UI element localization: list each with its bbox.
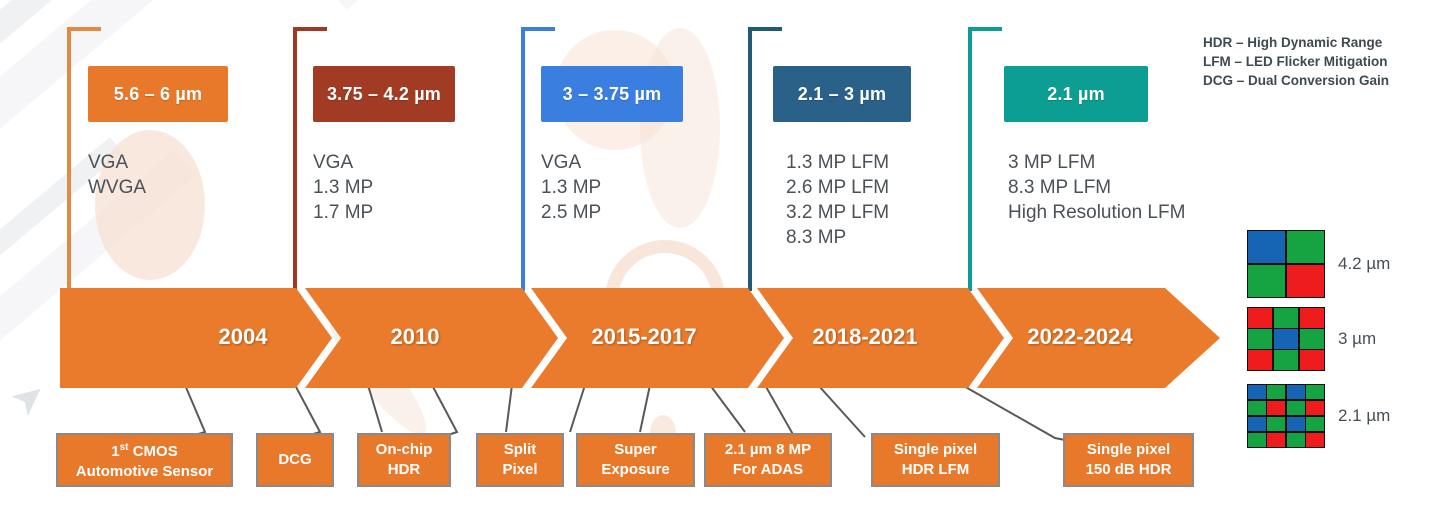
infographic-canvas: ➤ HDR – High Dynamic Range LFM – LED Fli…	[0, 0, 1430, 511]
callout-super-exposure[interactable]: Super Exposure	[576, 433, 695, 487]
bayer-cell-green	[1287, 433, 1305, 447]
callout-split-pixel[interactable]: Split Pixel	[476, 433, 564, 487]
callout-line-2: HDR LFM	[902, 460, 970, 480]
bayer-cell-green	[1287, 231, 1324, 263]
callout-line-2: For ADAS	[733, 460, 803, 480]
legend-line-hdr: HDR – High Dynamic Range	[1203, 33, 1389, 52]
callout-line-1: 1st CMOS	[111, 438, 177, 462]
bayer-cell-green	[1274, 350, 1298, 370]
bayer-cell-green	[1274, 308, 1298, 328]
year-label-2015-2017: 2015-2017	[591, 324, 696, 350]
abbreviation-legend: HDR – High Dynamic Range LFM – LED Flick…	[1203, 33, 1389, 90]
resolution-list-2010: VGA 1.3 MP 1.7 MP	[313, 150, 373, 225]
callout-line-2: 150 dB HDR	[1086, 460, 1172, 480]
bayer-cell-red	[1267, 433, 1285, 447]
callout-line-1: On-chip	[376, 440, 433, 460]
pixel-size-chip-2022-2024: 2.1 µm	[1004, 66, 1148, 122]
bayer-cell-green	[1248, 265, 1285, 297]
resolution-item: VGA	[88, 150, 146, 175]
bayer-cell-red	[1248, 308, 1272, 328]
resolution-item: 2.6 MP LFM	[786, 175, 889, 200]
callout-21um-8mp-for-adas[interactable]: 2.1 µm 8 MP For ADAS	[704, 433, 832, 487]
resolution-list-2015-2017: VGA 1.3 MP 2.5 MP	[541, 150, 601, 225]
callout-single-pixel-hdr-lfm[interactable]: Single pixel HDR LFM	[871, 433, 1000, 487]
bayer-grid-label-4-2um: 4.2 µm	[1338, 254, 1390, 274]
callout-line-2: Exposure	[601, 460, 669, 480]
resolution-item: 3 MP LFM	[1008, 150, 1185, 175]
bayer-cell-red	[1287, 265, 1324, 297]
callout-first-cmos-automotive-sensor[interactable]: 1st CMOS Automotive Sensor	[56, 433, 233, 487]
resolution-item: VGA	[313, 150, 373, 175]
bayer-cell-red	[1300, 308, 1324, 328]
bayer-cell-red	[1306, 433, 1324, 447]
bayer-cell-blue	[1274, 329, 1298, 349]
resolution-item: 3.2 MP LFM	[786, 200, 889, 225]
callout-line-1: DCG	[278, 450, 311, 470]
bayer-grid-2-1um	[1247, 384, 1325, 448]
resolution-item: VGA	[541, 150, 601, 175]
bayer-cell-blue	[1287, 385, 1305, 399]
bayer-grid-4-2um	[1247, 230, 1325, 298]
bayer-cell-blue	[1248, 417, 1266, 431]
bayer-cell-green	[1267, 385, 1285, 399]
bayer-cell-green	[1300, 329, 1324, 349]
resolution-item: 1.3 MP	[541, 175, 601, 200]
year-label-2004: 2004	[219, 324, 268, 350]
bayer-grid-3um	[1247, 307, 1325, 371]
legend-line-lfm: LFM – LED Flicker Mitigation	[1203, 52, 1389, 71]
callout-dcg[interactable]: DCG	[256, 433, 334, 487]
resolution-item: 1.3 MP	[313, 175, 373, 200]
bayer-cell-red	[1306, 401, 1324, 415]
callout-line-1: Single pixel	[1087, 440, 1170, 460]
bayer-cell-blue	[1287, 417, 1305, 431]
resolution-list-2004: VGA WVGA	[88, 150, 146, 200]
bayer-cell-green	[1306, 417, 1324, 431]
resolution-list-2018-2021: 1.3 MP LFM 2.6 MP LFM 3.2 MP LFM 8.3 MP	[786, 150, 889, 250]
resolution-item: 8.3 MP	[786, 225, 889, 250]
bayer-cell-blue	[1248, 385, 1266, 399]
bayer-cell-green	[1248, 401, 1266, 415]
legend-line-dcg: DCG – Dual Conversion Gain	[1203, 71, 1389, 90]
bayer-cell-green	[1248, 433, 1266, 447]
resolution-item: WVGA	[88, 175, 146, 200]
callout-on-chip-hdr[interactable]: On-chip HDR	[357, 433, 451, 487]
pixel-size-chip-2018-2021: 2.1 – 3 µm	[773, 66, 911, 122]
bayer-cell-red	[1267, 401, 1285, 415]
resolution-item: 1.7 MP	[313, 200, 373, 225]
bayer-cell-blue	[1248, 231, 1285, 263]
bayer-cell-green	[1267, 417, 1285, 431]
bayer-cell-red	[1300, 350, 1324, 370]
bayer-cell-green	[1287, 401, 1305, 415]
callout-line-2: Pixel	[502, 460, 537, 480]
callout-line-1: 2.1 µm 8 MP	[725, 440, 811, 460]
resolution-item: 2.5 MP	[541, 200, 601, 225]
callout-line-1: Single pixel	[894, 440, 977, 460]
year-label-2010: 2010	[391, 324, 440, 350]
callout-line-2: HDR	[388, 460, 421, 480]
resolution-item: High Resolution LFM	[1008, 200, 1185, 225]
resolution-item: 1.3 MP LFM	[786, 150, 889, 175]
resolution-item: 8.3 MP LFM	[1008, 175, 1185, 200]
callout-line-1: Split	[504, 440, 537, 460]
bayer-cell-red	[1248, 350, 1272, 370]
bayer-cell-green	[1306, 385, 1324, 399]
pixel-size-chip-2004: 5.6 – 6 µm	[88, 66, 228, 122]
timeline-arrow: 2004 2010 2015-2017 2018-2021 2022-2024	[60, 288, 1220, 388]
callout-line-2: Automotive Sensor	[76, 462, 214, 482]
bayer-grid-label-2-1um: 2.1 µm	[1338, 406, 1390, 426]
year-label-2018-2021: 2018-2021	[812, 324, 917, 350]
bayer-cell-green	[1248, 329, 1272, 349]
pixel-size-chip-2010: 3.75 – 4.2 µm	[313, 66, 455, 122]
resolution-list-2022-2024: 3 MP LFM 8.3 MP LFM High Resolution LFM	[1008, 150, 1185, 225]
bayer-grid-label-3um: 3 µm	[1338, 329, 1376, 349]
callout-single-pixel-150db-hdr[interactable]: Single pixel 150 dB HDR	[1063, 433, 1194, 487]
year-label-2022-2024: 2022-2024	[1027, 324, 1132, 350]
pixel-size-chip-2015-2017: 3 – 3.75 µm	[541, 66, 683, 122]
callout-line-1: Super	[614, 440, 657, 460]
